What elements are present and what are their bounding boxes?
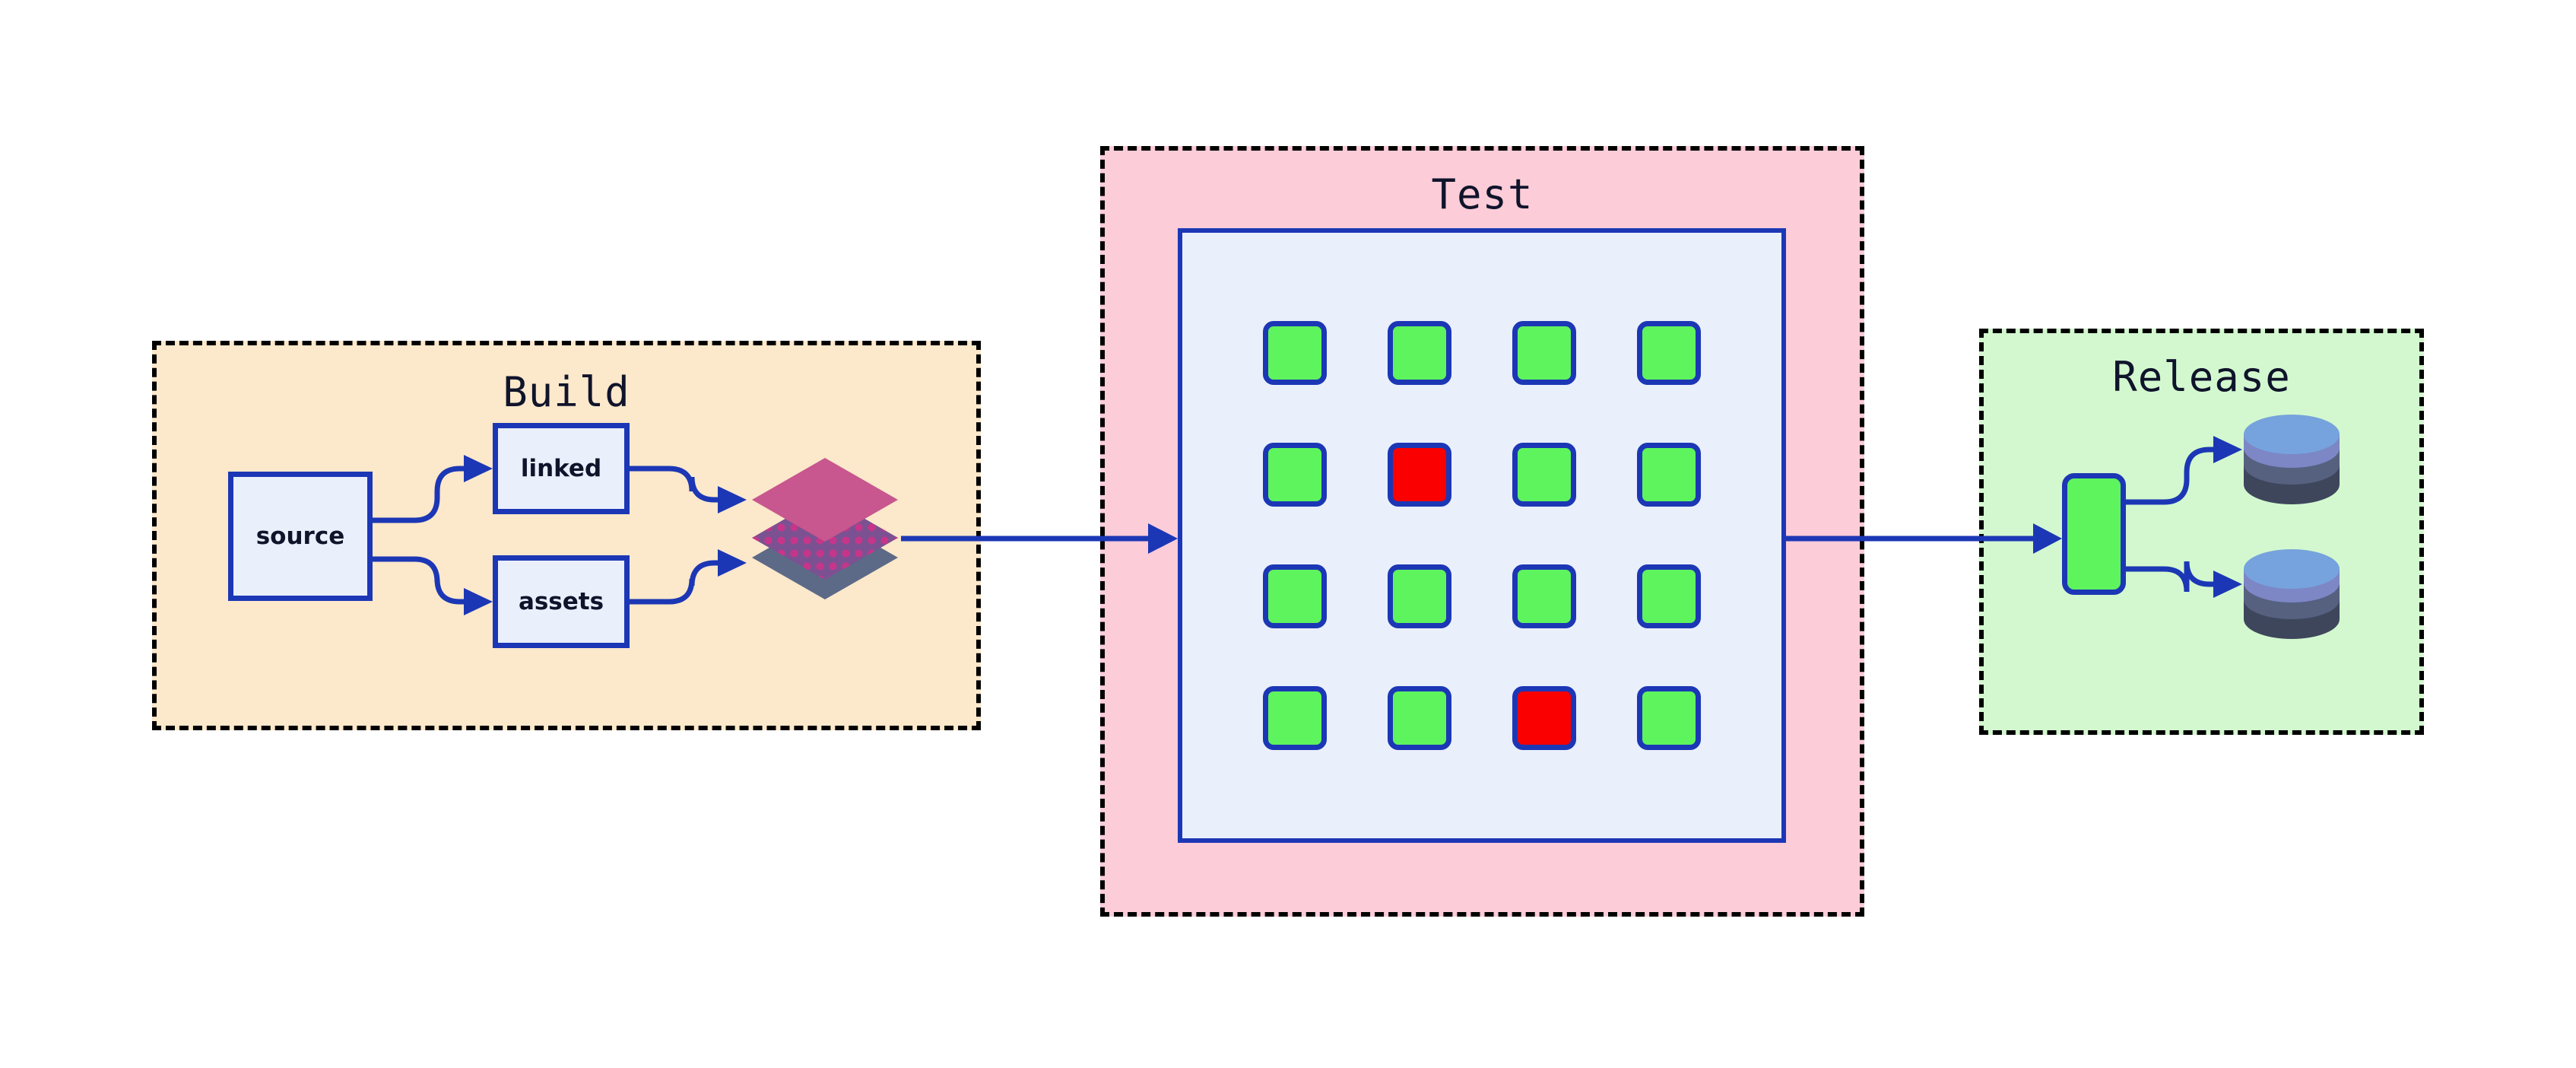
test-cell-passed[interactable] <box>1512 321 1576 385</box>
node-linked[interactable]: linked <box>493 423 630 514</box>
node-source-label: source <box>256 523 345 550</box>
node-linked-label: linked <box>521 455 601 482</box>
test-cell-passed[interactable] <box>1388 686 1451 750</box>
release-artifact-box[interactable] <box>2062 473 2126 595</box>
test-cell-failed[interactable] <box>1388 443 1451 507</box>
test-cell-passed[interactable] <box>1637 321 1701 385</box>
database-cylinder-icon <box>2244 415 2340 504</box>
cluster-release: Release <box>1979 329 2424 735</box>
test-cell-passed[interactable] <box>1637 686 1701 750</box>
test-cell-passed[interactable] <box>1388 564 1451 628</box>
test-cell-passed[interactable] <box>1512 564 1576 628</box>
cluster-build-title: Build <box>157 368 976 416</box>
diagram-canvas: Build source linked assets Test <box>0 0 2576 1068</box>
cluster-release-title: Release <box>1984 353 2419 401</box>
test-cell-passed[interactable] <box>1263 443 1327 507</box>
test-cell-passed[interactable] <box>1637 564 1701 628</box>
cluster-test-title: Test <box>1105 170 1860 218</box>
database-cylinder-icon <box>2244 549 2340 639</box>
node-source[interactable]: source <box>228 472 373 601</box>
layer-stack-icon <box>749 456 901 601</box>
test-cell-failed[interactable] <box>1512 686 1576 750</box>
test-cell-passed[interactable] <box>1637 443 1701 507</box>
test-results-grid <box>1178 228 1786 843</box>
test-cell-passed[interactable] <box>1263 321 1327 385</box>
node-assets-label: assets <box>519 588 604 615</box>
test-cell-passed[interactable] <box>1388 321 1451 385</box>
test-cell-passed[interactable] <box>1263 564 1327 628</box>
test-cell-passed[interactable] <box>1263 686 1327 750</box>
test-cell-passed[interactable] <box>1512 443 1576 507</box>
node-assets[interactable]: assets <box>493 555 630 648</box>
